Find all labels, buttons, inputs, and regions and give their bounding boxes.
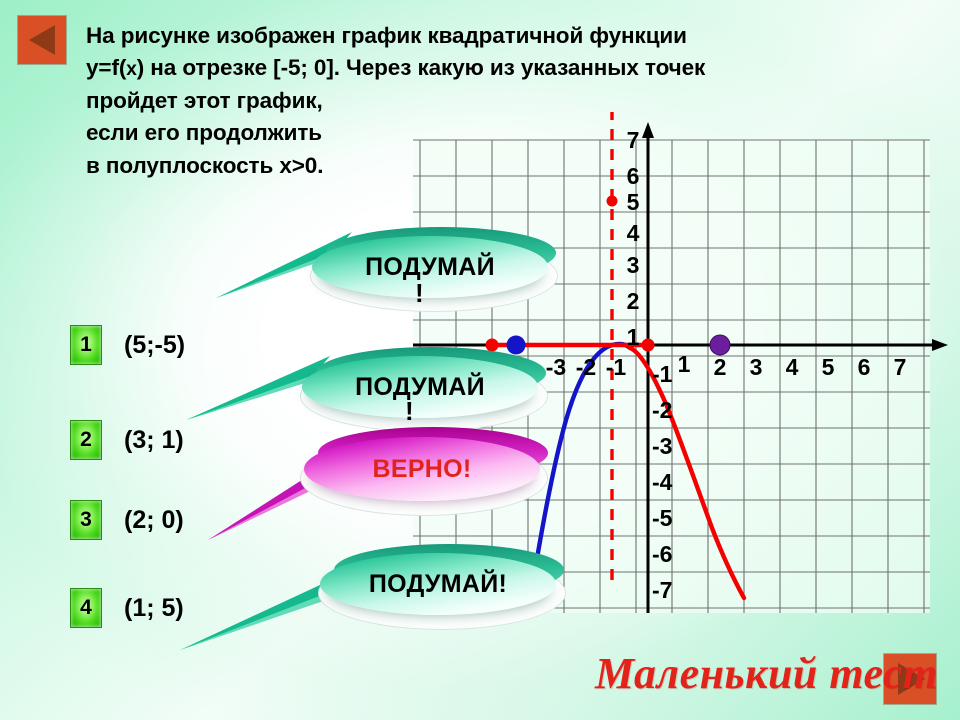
answer-2-number[interactable]: 2: [70, 420, 102, 460]
answer-1-number[interactable]: 1: [70, 325, 102, 365]
answer-option-4[interactable]: 4 (1; 5): [70, 588, 184, 628]
callout-3-label: ВЕРНО!: [372, 455, 471, 484]
answer-4-number[interactable]: 4: [70, 588, 102, 628]
slide-stage: 7 6 5 4 3 2 1 -1 -2 -3 -4 -5 -6 -7 -3 -2…: [0, 0, 960, 720]
answer-option-2[interactable]: 2 (3; 1): [70, 420, 184, 460]
answer-option-3[interactable]: 3 (2; 0): [70, 500, 184, 540]
answer-4-text: (1; 5): [124, 594, 184, 623]
answer-1-text: (5;-5): [124, 331, 185, 360]
callout-1-label: ПОДУМАЙ: [365, 253, 495, 282]
slide-title: Маленький тест: [595, 648, 938, 699]
callout-4-bubble[interactable]: ПОДУМАЙ!: [320, 553, 556, 615]
answer-2-text: (3; 1): [124, 426, 184, 455]
answer-3-text: (2; 0): [124, 506, 184, 535]
answer-3-number[interactable]: 3: [70, 500, 102, 540]
callout-4-label: ПОДУМАЙ!: [369, 570, 507, 599]
answer-option-1[interactable]: 1 (5;-5): [70, 325, 185, 365]
callout-2-label: ПОДУМАЙ: [355, 373, 485, 402]
